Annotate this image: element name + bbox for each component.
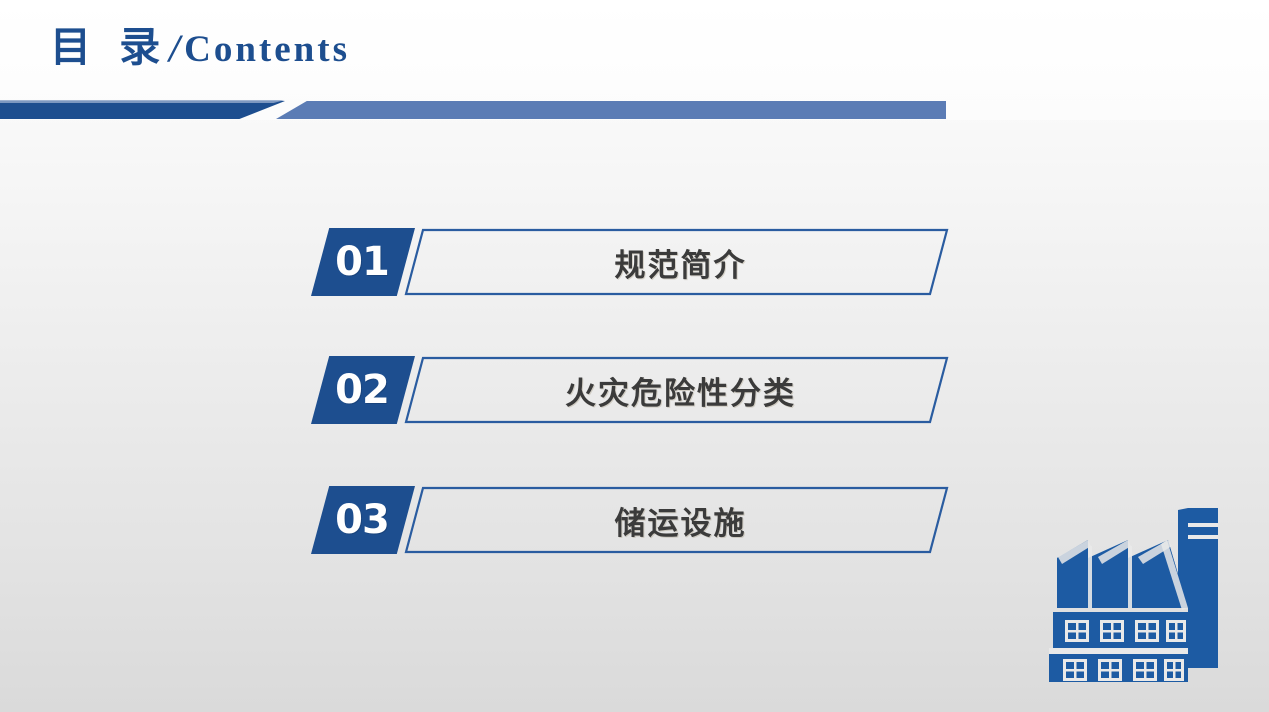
divider-light-segment (276, 101, 946, 119)
contents-number-badge-01: 01 (311, 228, 415, 296)
contents-number-badge-02: 02 (311, 356, 415, 424)
page-title-cn: 目 录 (50, 27, 167, 68)
contents-label-shape-03[interactable]: 储运设施 (404, 486, 949, 554)
contents-label-text-03: 储运设施 (404, 486, 949, 554)
contents-number-label-01: 01 (311, 228, 415, 296)
contents-item-01[interactable]: 01 规范简介 (0, 228, 1269, 300)
slide-canvas: 目 录/Contents 01 规范简介 02 火灾危险性分类 (0, 0, 1269, 712)
page-title-separator: / (167, 29, 184, 68)
contents-label-shape-01[interactable]: 规范简介 (404, 228, 949, 296)
page-title: 目 录/Contents (50, 27, 350, 68)
contents-number-label-02: 02 (311, 356, 415, 424)
contents-label-text-02: 火灾危险性分类 (404, 356, 949, 424)
header-divider (0, 100, 1269, 120)
divider-dark-highlight (0, 100, 285, 103)
contents-number-badge-03: 03 (311, 486, 415, 554)
slide-header: 目 录/Contents (0, 0, 1269, 120)
divider-dark-segment (0, 101, 285, 119)
contents-item-02[interactable]: 02 火灾危险性分类 (0, 356, 1269, 428)
page-title-en: Contents (184, 31, 350, 68)
contents-number-label-03: 03 (311, 486, 415, 554)
contents-label-shape-02[interactable]: 火灾危险性分类 (404, 356, 949, 424)
factory-icon (1045, 498, 1225, 684)
contents-label-text-01: 规范简介 (404, 228, 949, 296)
